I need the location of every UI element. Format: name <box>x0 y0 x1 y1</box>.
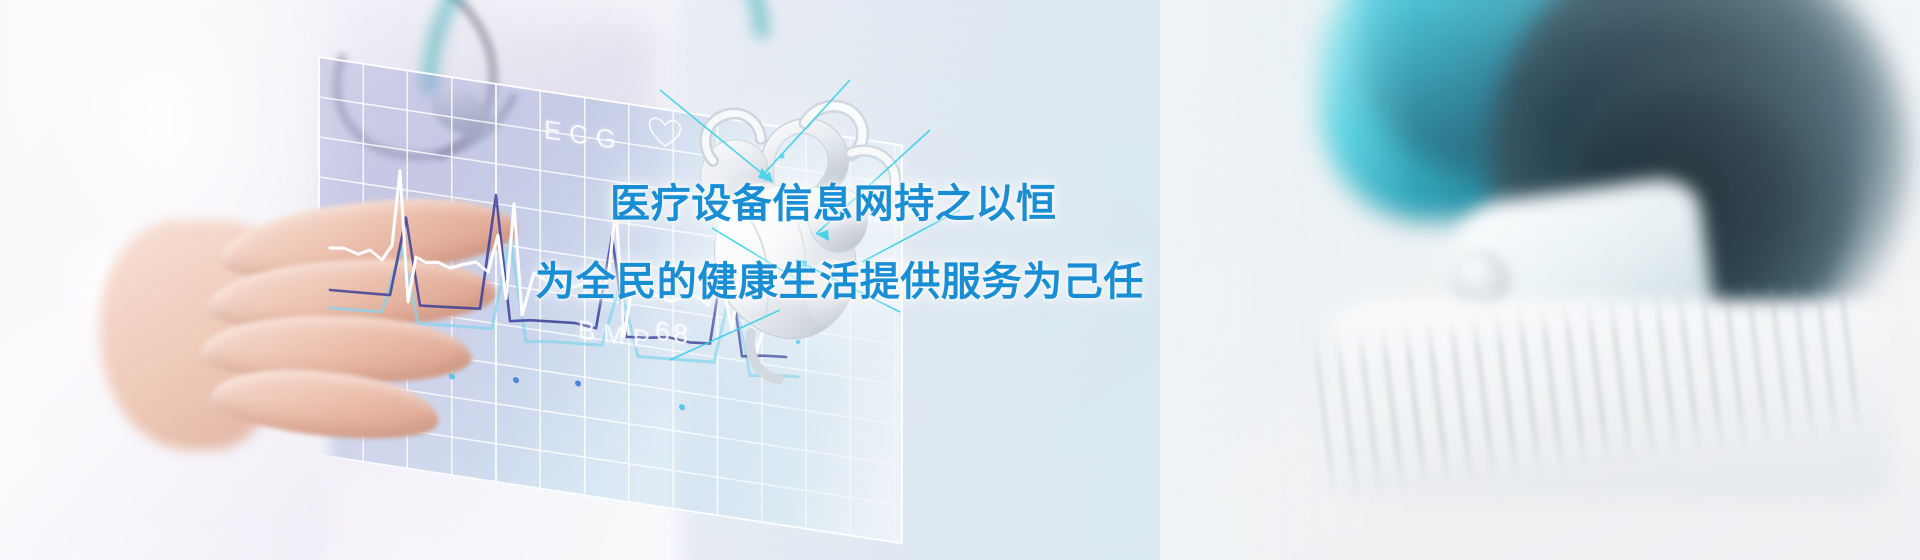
headline-line-2: 为全民的健康生活提供服务为己任 <box>535 249 1144 307</box>
cyan-data-rays <box>600 60 1020 420</box>
medical-hero-banner: ECG BMP 68 S.C <box>0 0 1920 560</box>
headline-line-1: 医疗设备信息网持之以恒 <box>610 171 1057 229</box>
microscope-blurred <box>1160 0 1920 560</box>
hand-touching-screen <box>140 190 560 520</box>
